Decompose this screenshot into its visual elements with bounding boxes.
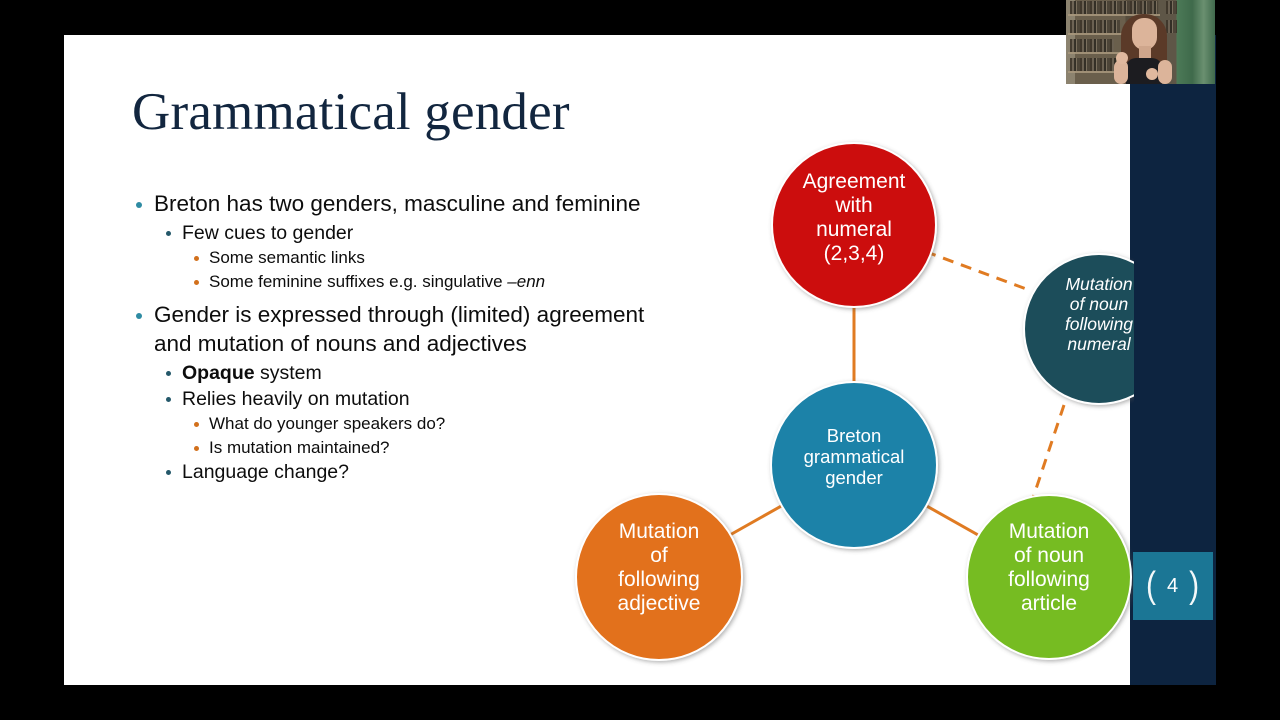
bullet-dot-icon	[166, 470, 171, 475]
bullet-dot-icon	[194, 280, 199, 285]
bookshelf-books	[1070, 20, 1120, 33]
bullet-dot-icon	[194, 256, 199, 261]
node-mutation-noun-article	[967, 495, 1131, 659]
bullet-dot-icon	[136, 313, 142, 319]
window-curtain	[1177, 0, 1215, 84]
concept-diagram: Agreement with numeral (2,3,4) Mutation …	[484, 75, 1134, 675]
bullet-dot-icon	[136, 202, 142, 208]
bullet-dot-icon	[166, 231, 171, 236]
bookshelf-books	[1070, 39, 1114, 52]
bookshelf-books	[1070, 1, 1158, 14]
bullet-dot-icon	[194, 446, 199, 451]
bookshelf-books	[1070, 58, 1116, 71]
node-breton-grammatical-gender	[771, 382, 937, 548]
slide-number-badge: ( 4 )	[1133, 552, 1213, 620]
node-mutation-noun-numeral	[1024, 254, 1134, 404]
list-item-text-bold: Opaque	[182, 362, 255, 384]
presenter-webcam-thumbnail[interactable]	[1066, 0, 1215, 84]
diagram-canvas	[484, 75, 1134, 675]
bullet-dot-icon	[166, 397, 171, 402]
bullet-dot-icon	[194, 422, 199, 427]
list-item-text-plain: system	[255, 362, 322, 384]
node-agreement-numeral	[772, 143, 936, 307]
bracket-left-icon: (	[1136, 567, 1167, 605]
presenter-arm-right	[1158, 60, 1172, 84]
presenter-hand-right	[1146, 68, 1158, 80]
bullet-dot-icon	[166, 371, 171, 376]
presentation-slide: ( 4 ) Grammatical gender Breton has two …	[64, 35, 1216, 685]
bracket-right-icon: )	[1179, 567, 1210, 605]
list-item-text-plain: Some feminine suffixes e.g. singulative	[209, 272, 507, 291]
presenter-hand-left	[1116, 52, 1128, 64]
slide-number: 4	[1167, 576, 1179, 596]
screen: ( 4 ) Grammatical gender Breton has two …	[0, 0, 1280, 720]
node-mutation-following-adjective	[576, 494, 742, 660]
